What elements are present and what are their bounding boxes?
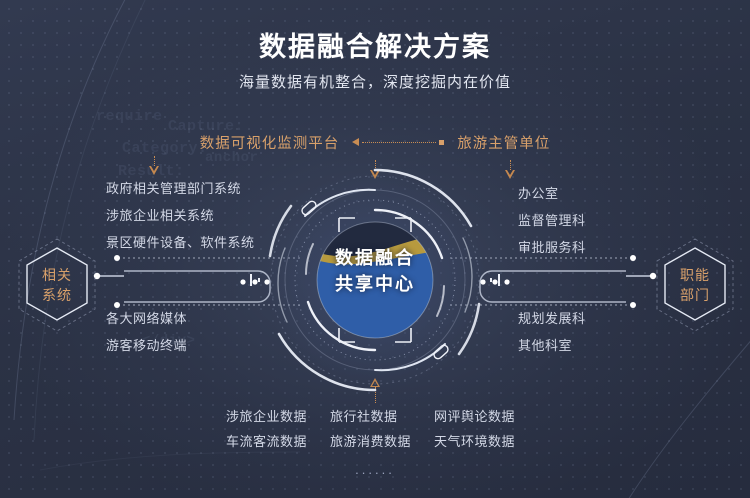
list-item[interactable]: 监督管理科 [518, 207, 586, 234]
list-item[interactable]: 政府相关管理部门系统 [106, 175, 255, 202]
page-title: 数据融合解决方案 [0, 25, 750, 64]
hexagon-left-line2: 系统 [42, 285, 72, 305]
label-visualization-platform[interactable]: 数据可视化监测平台 [200, 132, 340, 153]
list-item[interactable]: 审批服务科 [518, 234, 586, 261]
column-right-top: 办公室 监督管理科 审批服务科 [518, 180, 586, 261]
hexagon-left-label: 相关 系统 [14, 236, 100, 334]
list-item[interactable]: 车流客流数据 [226, 431, 330, 450]
list-item[interactable]: 景区硬件设备、软件系统 [106, 229, 255, 256]
hexagon-right-label: 职能 部门 [652, 236, 738, 334]
hexagon-right-line2: 部门 [680, 285, 710, 305]
bottom-ellipsis: ...... [0, 462, 750, 477]
list-item[interactable]: 各大网络媒体 [106, 305, 187, 332]
list-item[interactable]: 网评舆论数据 [434, 406, 526, 425]
marker-left-column [147, 156, 161, 175]
top-label-row: 数据可视化监测平台 旅游主管单位 [0, 131, 750, 153]
arrow-connector [352, 138, 444, 146]
center-hub-label: 数据融合 共享中心 [243, 245, 507, 297]
list-item[interactable]: 旅行社数据 [330, 406, 434, 425]
dotted-line [362, 142, 436, 143]
page-subtitle: 海量数据有机整合，深度挖掘内在价值 [0, 71, 750, 92]
center-line1: 数据融合 [243, 245, 507, 271]
list-item[interactable]: 涉旅企业相关系统 [106, 202, 255, 229]
list-item[interactable]: 办公室 [518, 180, 586, 207]
column-left-top: 政府相关管理部门系统 涉旅企业相关系统 景区硬件设备、软件系统 [106, 175, 255, 256]
hexagon-functional-departments[interactable]: 职能 部门 [652, 236, 738, 334]
column-right-bottom: 规划发展科 其他科室 [518, 305, 586, 359]
column-left-bottom: 各大网络媒体 游客移动终端 [106, 305, 187, 359]
bottom-data-grid: 涉旅企业数据 旅行社数据 网评舆论数据 车流客流数据 旅游消费数据 天气环境数据 [226, 406, 526, 450]
hexagon-related-systems[interactable]: 相关 系统 [14, 236, 100, 334]
list-item[interactable]: 涉旅企业数据 [226, 406, 330, 425]
endpoint-square-icon [439, 140, 444, 145]
list-item[interactable]: 其他科室 [518, 332, 586, 359]
infographic-canvas: require Capture: Category: Result: ancho… [0, 0, 750, 498]
list-item[interactable]: 游客移动终端 [106, 332, 187, 359]
arrow-left-icon [352, 138, 359, 146]
center-line2: 共享中心 [243, 271, 507, 297]
list-item[interactable]: 规划发展科 [518, 305, 586, 332]
list-item[interactable]: 旅游消费数据 [330, 431, 434, 450]
hexagon-left-line1: 相关 [42, 265, 72, 285]
label-tourism-authority[interactable]: 旅游主管单位 [457, 132, 550, 153]
hexagon-right-line1: 职能 [680, 265, 710, 285]
background-code-text: require [96, 108, 163, 125]
list-item[interactable]: 天气环境数据 [434, 431, 526, 450]
